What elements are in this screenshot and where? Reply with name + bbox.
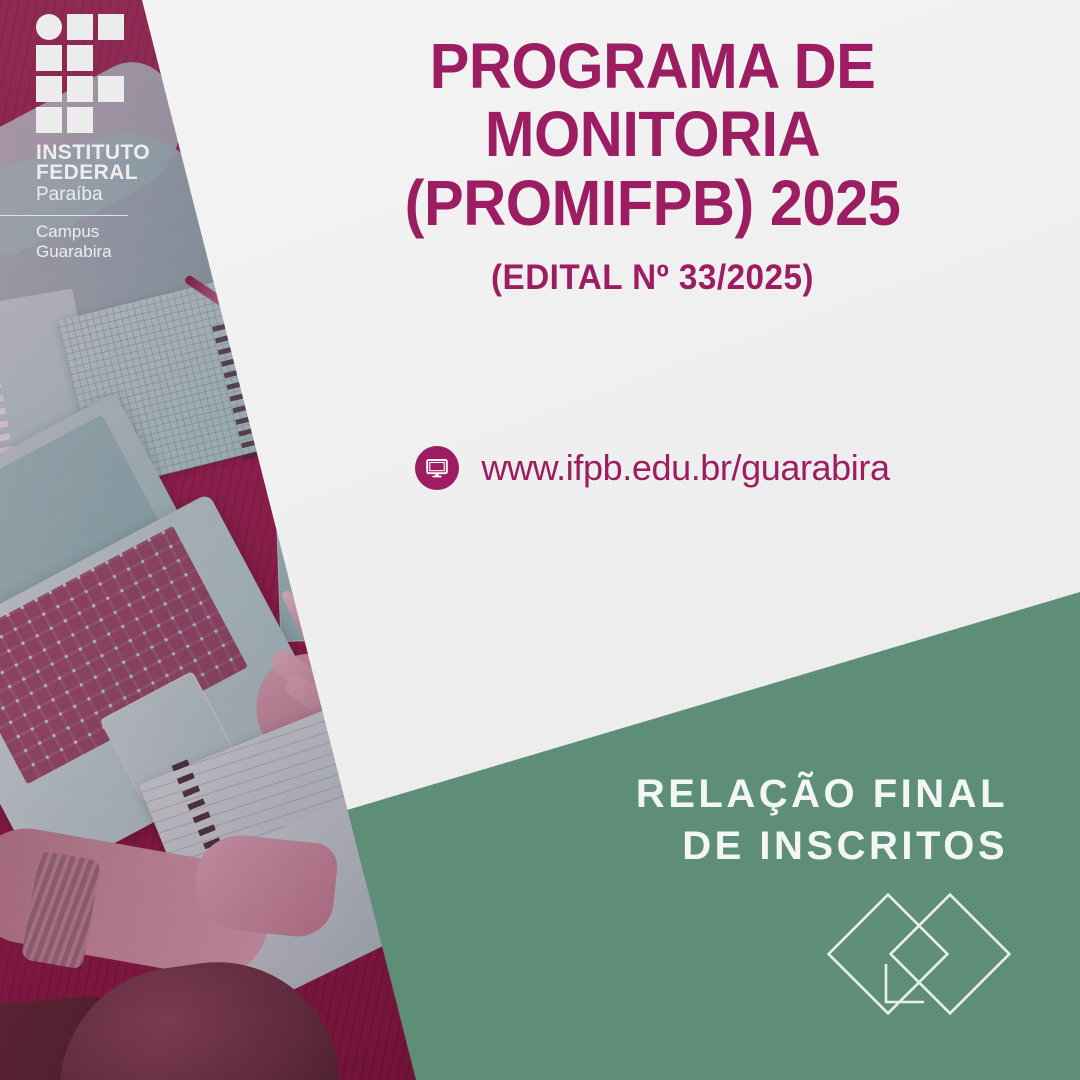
logo-divider bbox=[0, 215, 128, 216]
banner-label: RELAÇÃO FINAL DE INSCRITOS bbox=[636, 768, 1008, 872]
logo-state-label: Paraíba bbox=[36, 183, 150, 207]
overlapping-diamonds-icon bbox=[824, 892, 1014, 1052]
banner-label-line2: DE INSCRITOS bbox=[636, 820, 1008, 872]
ifpb-logo-mark-icon bbox=[36, 14, 128, 133]
logo-cell bbox=[98, 14, 124, 40]
banner-label-line1: RELAÇÃO FINAL bbox=[636, 768, 1008, 820]
logo-cell bbox=[98, 76, 124, 102]
page-title-line2: (PROMIFPB) 2025 bbox=[283, 169, 1022, 237]
page-subtitle: (EDITAL Nº 33/2025) bbox=[275, 258, 1030, 298]
logo-campus-line2: Guarabira bbox=[36, 242, 150, 262]
logo-campus-line1: Campus bbox=[36, 222, 150, 242]
logo-cell bbox=[67, 76, 93, 102]
page-title-line1: PROGRAMA DE MONITORIA bbox=[430, 30, 876, 170]
logo-cell-circle bbox=[36, 14, 62, 40]
ifpb-logo: INSTITUTO FEDERAL Paraíba Campus Guarabi… bbox=[0, 8, 150, 263]
page-title: PROGRAMA DE MONITORIA (PROMIFPB) 2025 bbox=[283, 32, 1022, 237]
logo-cell bbox=[36, 76, 62, 102]
logo-cell-empty bbox=[98, 45, 124, 71]
logo-institute-line1: INSTITUTO bbox=[36, 143, 150, 163]
logo-cell bbox=[67, 14, 93, 40]
logo-cell bbox=[36, 107, 62, 133]
poster-canvas: INSTITUTO FEDERAL Paraíba Campus Guarabi… bbox=[0, 0, 1080, 1080]
logo-cell bbox=[67, 45, 93, 71]
logo-institute-line2: FEDERAL bbox=[36, 163, 150, 183]
logo-cell-empty bbox=[98, 107, 124, 133]
website-url[interactable]: www.ifpb.edu.br/guarabira bbox=[481, 447, 889, 489]
logo-cell bbox=[67, 107, 93, 133]
monitor-icon bbox=[415, 446, 459, 490]
website-row[interactable]: www.ifpb.edu.br/guarabira bbox=[255, 446, 1050, 490]
logo-cell bbox=[36, 45, 62, 71]
